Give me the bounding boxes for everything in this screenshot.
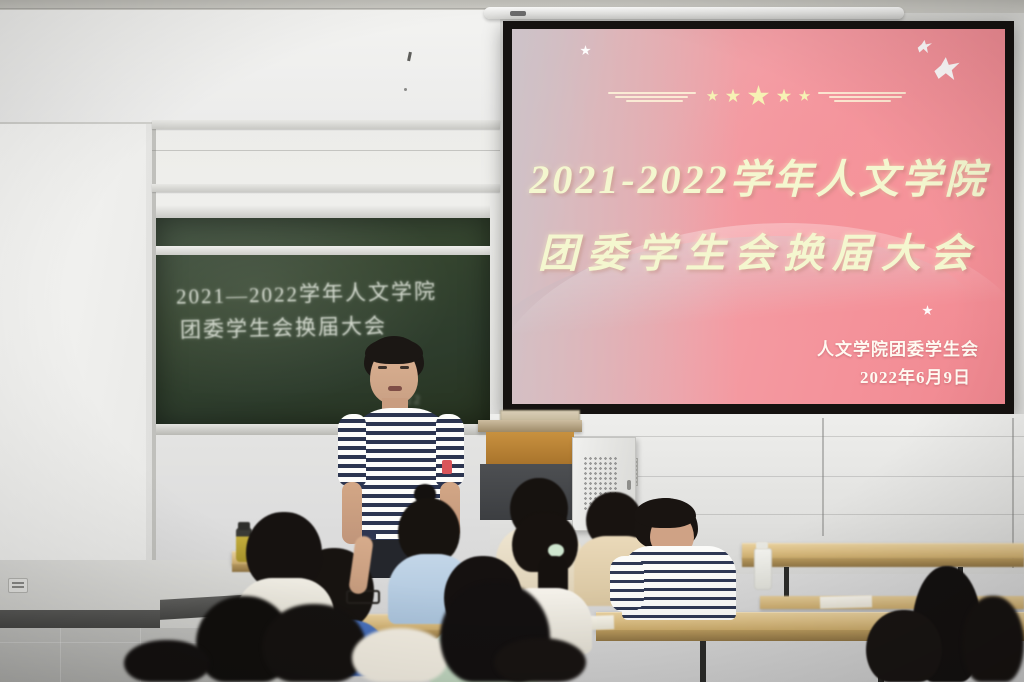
slide-title-line2: 团委学生会换届大会 xyxy=(512,221,1005,279)
star-1-icon xyxy=(707,90,719,102)
wall-seam-1 xyxy=(152,150,500,151)
ceiling-mark-small xyxy=(404,88,407,91)
right-head-2-hair xyxy=(866,610,942,682)
left-head-hair xyxy=(246,512,322,586)
wall-rail-lower xyxy=(152,184,500,192)
presentation-slide: 2021-2022学年人文学院 团委学生会换届大会 人文学院团委学生会 2022… xyxy=(512,29,1005,404)
dove-large-icon xyxy=(932,55,962,81)
desk-leg-a xyxy=(784,567,789,597)
slide-organization: 人文学院团委学生会 xyxy=(817,335,979,360)
presenter-forearm-left xyxy=(342,482,362,544)
wall-seam-2 xyxy=(0,8,500,9)
right-head-3-hair xyxy=(962,596,1024,682)
striped-boy-arm xyxy=(610,556,644,612)
power-outlet-icon xyxy=(8,578,28,593)
foreground-head-2-hair xyxy=(262,604,366,682)
star-5-icon xyxy=(799,90,811,102)
desk-row-far-right-edge xyxy=(742,558,1024,567)
water-bottle-right-cap xyxy=(756,542,768,549)
desk-leg-c xyxy=(700,641,706,682)
lectern-body xyxy=(486,432,574,464)
whiteboard-sliding-panel-face xyxy=(0,124,146,594)
roller-knob xyxy=(510,11,526,16)
slide-date: 2022年6月9日 xyxy=(860,363,971,388)
wall-rail-upper xyxy=(152,120,500,129)
blackboard-line1: 2021—2022学年人文学院 xyxy=(176,275,438,310)
star-4-icon xyxy=(777,89,792,104)
desk-row-far-right xyxy=(742,543,1024,559)
projector-screen: 2021-2022学年人文学院 团委学生会换届大会 人文学院团委学生会 2022… xyxy=(503,21,1014,414)
classroom-photo-scene: 2021—2022学年人文学院 团委学生会换届大会 人 团委 2022 xyxy=(0,0,1024,682)
bun-girl-hair xyxy=(398,498,460,560)
whiteboard-upper-panel xyxy=(0,10,500,125)
star-3-icon xyxy=(748,85,770,107)
foreground-head-6-hair xyxy=(124,640,210,682)
speaker-latch xyxy=(627,480,631,490)
presenter-eye-left xyxy=(378,366,387,369)
foreground-head-5-hair xyxy=(494,638,586,682)
presenter-eye-right xyxy=(400,366,409,369)
star-2-icon xyxy=(726,89,741,104)
blackboard-line2: 团委学生会换届大会 xyxy=(180,310,388,344)
water-bottle-left-cap xyxy=(238,522,250,530)
foreground-head-3-hair xyxy=(352,628,448,682)
presenter-arm-right xyxy=(436,414,464,486)
blackboard-rail-mid xyxy=(156,246,490,255)
water-bottle-right xyxy=(754,548,772,590)
lectern-top xyxy=(478,420,582,432)
presenter-fringe xyxy=(365,338,423,364)
dove-small-icon xyxy=(916,39,933,54)
presenter-shirt-tag xyxy=(442,460,452,474)
paper-stack-right xyxy=(820,595,872,608)
wall-vertical-seam-1 xyxy=(822,418,824,536)
presenter-mouth xyxy=(388,386,402,391)
blackboard-rail-top xyxy=(156,205,490,218)
projector-screen-roller xyxy=(484,7,904,19)
striped-boy-fringe xyxy=(634,498,696,528)
slide-title-line1: 2021-2022学年人文学院 xyxy=(512,147,1005,205)
presenter-arm-left xyxy=(338,414,366,486)
flourish-right xyxy=(818,90,910,102)
flourish-left xyxy=(608,90,700,102)
star-decoration-row xyxy=(512,85,1005,107)
floor-tile-line-2 xyxy=(60,628,61,682)
